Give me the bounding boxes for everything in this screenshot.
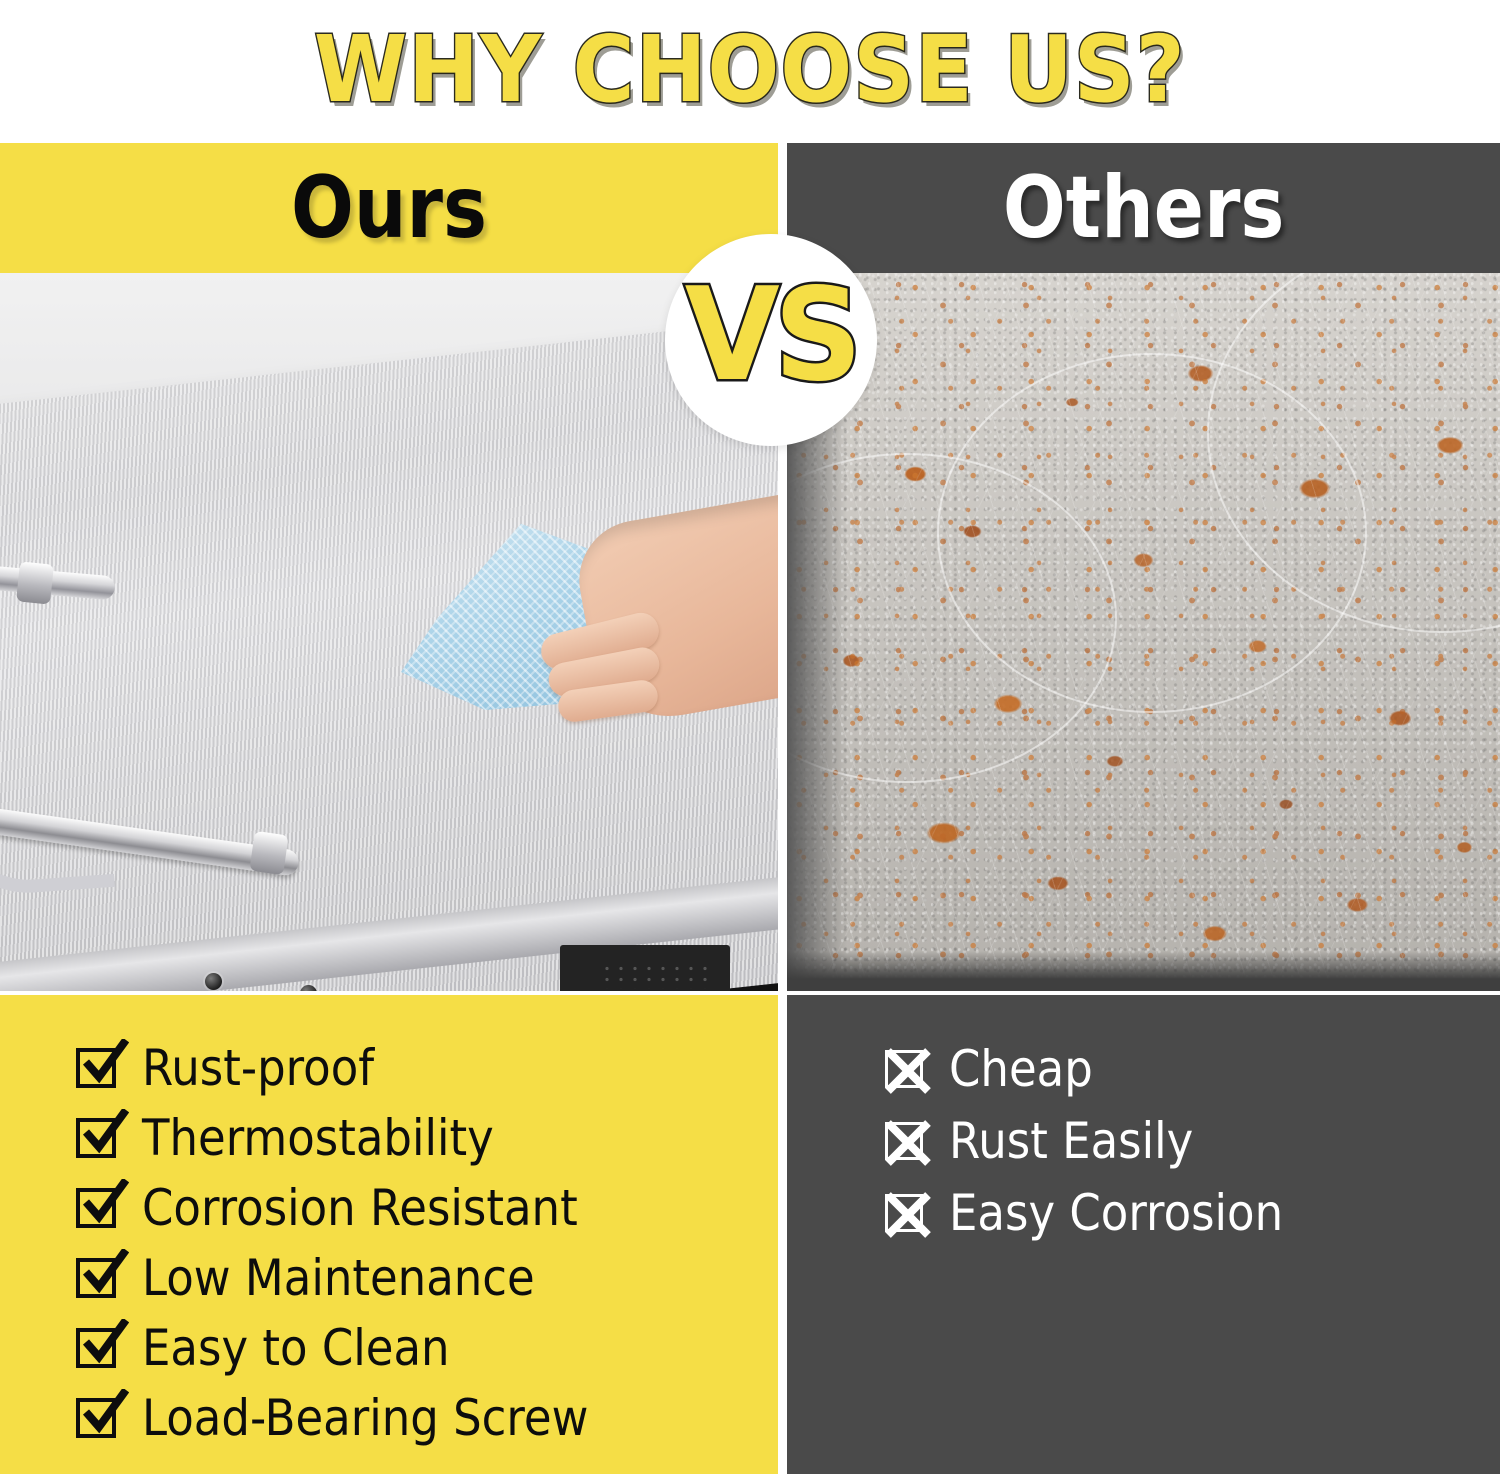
- list-item: Easy to Clean: [0, 1313, 778, 1383]
- vs-badge: VS: [665, 234, 877, 446]
- others-header-label: Others: [1003, 164, 1285, 252]
- checkmark-icon: [81, 1389, 129, 1435]
- list-item-label: Rust-proof: [142, 1041, 374, 1095]
- cross-icon: [882, 1189, 934, 1241]
- checkmark-icon: [81, 1039, 129, 1085]
- others-feature-list: CheapRust EasilyEasy Corrosion: [787, 995, 1500, 1249]
- header: WHY CHOOSE US?: [0, 0, 1500, 140]
- ours-header-bar: Ours: [0, 143, 778, 273]
- list-item-label: Thermostability: [142, 1111, 494, 1165]
- checkmark-icon: [81, 1109, 129, 1155]
- list-item-label: Rust Easily: [949, 1114, 1193, 1168]
- check-icon: [76, 1048, 116, 1088]
- list-item: Thermostability: [0, 1103, 778, 1173]
- list-item-label: Low Maintenance: [142, 1251, 535, 1305]
- others-header-bar: Others: [787, 143, 1500, 273]
- cross-icon: [882, 1117, 934, 1169]
- screw-icon: [205, 973, 222, 990]
- list-item: Corrosion Resistant: [0, 1173, 778, 1243]
- list-item-label: Easy Corrosion: [949, 1186, 1283, 1240]
- list-item-label: Load-Bearing Screw: [142, 1391, 588, 1445]
- list-item: Rust Easily: [787, 1105, 1500, 1177]
- list-item: Low Maintenance: [0, 1243, 778, 1313]
- checkmark-icon: [81, 1249, 129, 1295]
- vs-label: VS: [685, 272, 857, 400]
- list-item: Rust-proof: [0, 1033, 778, 1103]
- surface-bottom-shadow: [787, 951, 1500, 991]
- list-item: Load-Bearing Screw: [0, 1383, 778, 1453]
- ours-feature-list: Rust-proofThermostabilityCorrosion Resis…: [0, 995, 778, 1453]
- check-icon: [76, 1328, 116, 1368]
- page-title: WHY CHOOSE US?: [314, 24, 1186, 116]
- perforation-grid: [600, 963, 710, 989]
- handle-collar: [249, 831, 288, 875]
- check-icon: [76, 1398, 116, 1438]
- checkmark-icon: [81, 1179, 129, 1225]
- check-icon: [76, 1258, 116, 1298]
- x-icon: [885, 1050, 923, 1088]
- list-item: Cheap: [787, 1033, 1500, 1105]
- x-icon: [885, 1122, 923, 1160]
- ours-header-label: Ours: [291, 164, 487, 252]
- others-photo: [787, 273, 1500, 991]
- list-item: Easy Corrosion: [787, 1177, 1500, 1249]
- others-feature-panel: CheapRust EasilyEasy Corrosion: [787, 995, 1500, 1474]
- list-item-label: Easy to Clean: [142, 1321, 450, 1375]
- handle-collar: [16, 561, 54, 604]
- list-item-label: Corrosion Resistant: [142, 1181, 578, 1235]
- ours-feature-panel: Rust-proofThermostabilityCorrosion Resis…: [0, 995, 778, 1474]
- checkmark-icon: [81, 1319, 129, 1365]
- x-icon: [885, 1194, 923, 1232]
- ours-photo: Wipe Clean: [0, 273, 778, 991]
- cross-icon: [882, 1045, 934, 1097]
- check-icon: [76, 1118, 116, 1158]
- comparison-infographic: WHY CHOOSE US? Ours Others Wipe: [0, 0, 1500, 1474]
- check-icon: [76, 1188, 116, 1228]
- list-item-label: Cheap: [949, 1042, 1093, 1096]
